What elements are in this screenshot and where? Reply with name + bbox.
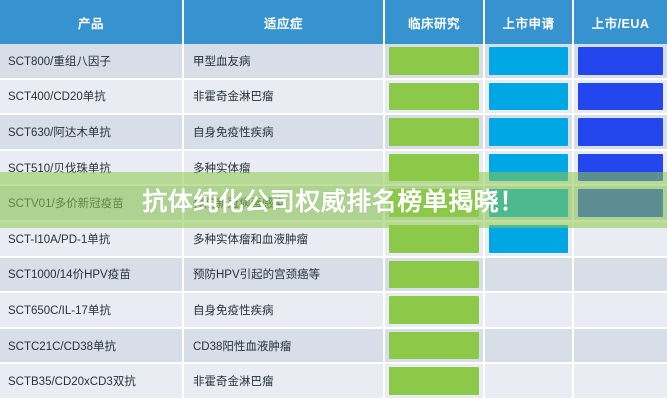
cell-indication: 自身免疫性疾病 <box>184 115 385 151</box>
status-bar-marketed <box>578 47 663 75</box>
cell-status-bar-clinical <box>385 186 485 222</box>
cell-indication: 非霍奇金淋巴瘤 <box>184 364 385 400</box>
status-bar-clinical <box>389 332 479 360</box>
cell-status-bar-filing <box>485 186 574 222</box>
table-row: SCTV01/多价新冠疫苗预防新冠病毒感染 <box>0 186 667 222</box>
cell-indication: 预防新冠病毒感染 <box>184 186 385 222</box>
cell-status-bar-clinical <box>385 364 485 400</box>
status-bar-filing <box>489 47 568 75</box>
column-header-marketed-eua: 上市/EUA <box>574 0 667 44</box>
status-bar-filing <box>489 296 568 324</box>
status-bar-clinical <box>389 47 479 75</box>
table-row: SCT510/贝伐珠单抗多种实体瘤 <box>0 151 667 187</box>
cell-status-bar-filing <box>485 44 574 80</box>
cell-product: SCTB35/CD20xCD3双抗 <box>0 364 184 400</box>
cell-product: SCTC21C/CD38单抗 <box>0 329 184 365</box>
status-bar-clinical <box>389 118 479 146</box>
cell-status-bar-marketed <box>574 329 667 365</box>
status-bar-clinical <box>389 296 479 324</box>
status-bar-marketed <box>578 154 663 182</box>
status-bar-marketed <box>578 83 663 111</box>
cell-status-bar-clinical <box>385 293 485 329</box>
cell-product: SCT510/贝伐珠单抗 <box>0 151 184 187</box>
table-row: SCT400/CD20单抗非霍奇金淋巴瘤 <box>0 80 667 116</box>
cell-status-bar-clinical <box>385 80 485 116</box>
cell-product: SCT-I10A/PD-1单抗 <box>0 222 184 258</box>
status-bar-marketed <box>578 225 663 253</box>
status-bar-marketed <box>578 189 663 217</box>
cell-status-bar-clinical <box>385 115 485 151</box>
status-bar-filing <box>489 367 568 395</box>
cell-status-bar-filing <box>485 80 574 116</box>
status-bar-clinical <box>389 83 479 111</box>
cell-product: SCT1000/14价HPV疫苗 <box>0 258 184 294</box>
table-row: SCTC21C/CD38单抗CD38阳性血液肿瘤 <box>0 329 667 365</box>
product-pipeline-table: 产品 适应症 临床研究 上市申请 上市/EUA SCT800/重组八因子甲型血友… <box>0 0 667 400</box>
column-header-product: 产品 <box>0 0 184 44</box>
cell-status-bar-marketed <box>574 364 667 400</box>
cell-status-bar-clinical <box>385 151 485 187</box>
status-bar-filing <box>489 261 568 289</box>
status-bar-clinical <box>389 154 479 182</box>
cell-indication: 甲型血友病 <box>184 44 385 80</box>
status-bar-clinical <box>389 367 479 395</box>
cell-status-bar-marketed <box>574 151 667 187</box>
cell-status-bar-marketed <box>574 222 667 258</box>
table-header: 产品 适应症 临床研究 上市申请 上市/EUA <box>0 0 667 44</box>
status-bar-filing <box>489 154 568 182</box>
cell-product: SCT400/CD20单抗 <box>0 80 184 116</box>
cell-status-bar-marketed <box>574 80 667 116</box>
cell-status-bar-clinical <box>385 44 485 80</box>
cell-status-bar-filing <box>485 364 574 400</box>
cell-status-bar-marketed <box>574 115 667 151</box>
cell-indication: CD38阳性血液肿瘤 <box>184 329 385 365</box>
cell-status-bar-filing <box>485 293 574 329</box>
cell-status-bar-filing <box>485 115 574 151</box>
table-row: SCT650C/IL-17单抗自身免疫性疾病 <box>0 293 667 329</box>
table-row: SCT630/阿达木单抗自身免疫性疾病 <box>0 115 667 151</box>
status-bar-marketed <box>578 367 663 395</box>
table-row: SCT-I10A/PD-1单抗多种实体瘤和血液肿瘤 <box>0 222 667 258</box>
cell-status-bar-marketed <box>574 44 667 80</box>
cell-status-bar-filing <box>485 329 574 365</box>
cell-indication: 多种实体瘤和血液肿瘤 <box>184 222 385 258</box>
cell-indication: 多种实体瘤 <box>184 151 385 187</box>
cell-status-bar-marketed <box>574 293 667 329</box>
cell-product: SCT650C/IL-17单抗 <box>0 293 184 329</box>
cell-status-bar-clinical <box>385 258 485 294</box>
cell-product: SCT800/重组八因子 <box>0 44 184 80</box>
cell-status-bar-filing <box>485 258 574 294</box>
cell-status-bar-filing <box>485 222 574 258</box>
column-header-indication: 适应症 <box>184 0 385 44</box>
column-header-clinical-research: 临床研究 <box>385 0 485 44</box>
header-row: 产品 适应症 临床研究 上市申请 上市/EUA <box>0 0 667 44</box>
status-bar-clinical <box>389 261 479 289</box>
pipeline-screenshot: 产品 适应症 临床研究 上市申请 上市/EUA SCT800/重组八因子甲型血友… <box>0 0 667 400</box>
column-header-marketing-application: 上市申请 <box>485 0 574 44</box>
table-row: SCTB35/CD20xCD3双抗非霍奇金淋巴瘤 <box>0 364 667 400</box>
status-bar-filing <box>489 189 568 217</box>
cell-status-bar-clinical <box>385 222 485 258</box>
status-bar-clinical <box>389 189 479 217</box>
table-body: SCT800/重组八因子甲型血友病SCT400/CD20单抗非霍奇金淋巴瘤SCT… <box>0 44 667 400</box>
cell-status-bar-marketed <box>574 258 667 294</box>
status-bar-marketed <box>578 261 663 289</box>
cell-indication: 预防HPV引起的宫颈癌等 <box>184 258 385 294</box>
status-bar-marketed <box>578 296 663 324</box>
status-bar-filing <box>489 332 568 360</box>
cell-status-bar-clinical <box>385 329 485 365</box>
cell-status-bar-filing <box>485 151 574 187</box>
table-row: SCT800/重组八因子甲型血友病 <box>0 44 667 80</box>
cell-product: SCTV01/多价新冠疫苗 <box>0 186 184 222</box>
status-bar-filing <box>489 118 568 146</box>
status-bar-clinical <box>389 225 479 253</box>
status-bar-marketed <box>578 118 663 146</box>
cell-product: SCT630/阿达木单抗 <box>0 115 184 151</box>
status-bar-marketed <box>578 332 663 360</box>
cell-indication: 非霍奇金淋巴瘤 <box>184 80 385 116</box>
status-bar-filing <box>489 83 568 111</box>
status-bar-filing <box>489 225 568 253</box>
table-row: SCT1000/14价HPV疫苗预防HPV引起的宫颈癌等 <box>0 258 667 294</box>
cell-status-bar-marketed <box>574 186 667 222</box>
cell-indication: 自身免疫性疾病 <box>184 293 385 329</box>
